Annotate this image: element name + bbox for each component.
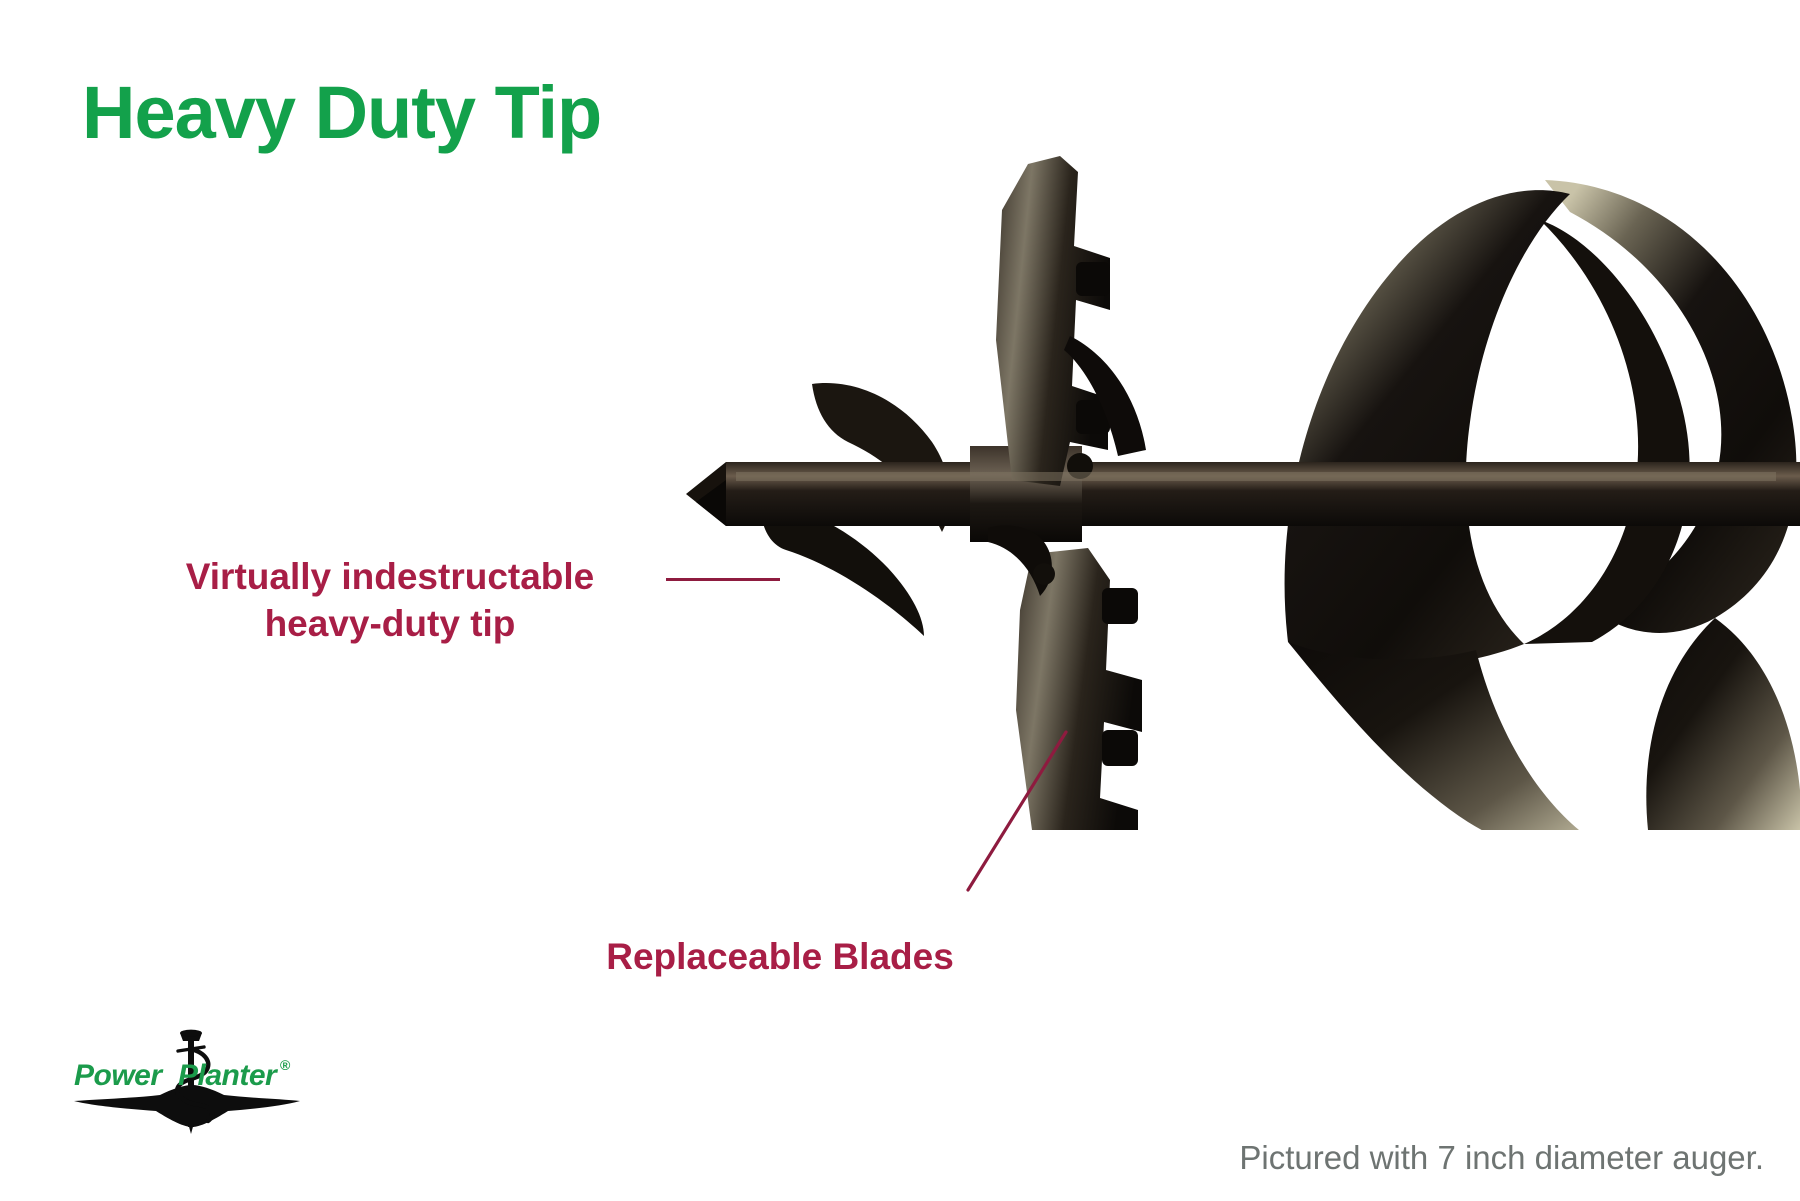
logo-auger-head-cap <box>180 1030 202 1037</box>
blade-bolt-hole-upper-1 <box>1076 262 1110 296</box>
image-caption: Pictured with 7 inch diameter auger. <box>1239 1139 1764 1177</box>
shaft-highlight <box>736 472 1776 481</box>
annotation-tip-line2: heavy-duty tip <box>110 600 670 647</box>
auger-flighting-main-lower <box>1288 642 1592 830</box>
auger-illustration <box>640 150 1800 830</box>
logo-auger-point <box>188 1123 194 1134</box>
auger-flighting-right-lower <box>1646 618 1800 830</box>
annotation-tip-line1: Virtually indestructable <box>110 553 670 600</box>
logo-registered-mark: ® <box>280 1057 290 1073</box>
page-title: Heavy Duty Tip <box>82 74 601 152</box>
auger-flighting-main-upper <box>1285 190 1570 667</box>
logo-word-power: Power <box>74 1059 162 1093</box>
auger-shaft <box>726 462 1800 526</box>
clip-pin <box>1033 563 1055 585</box>
brand-logo: Power Planter ® <box>72 1029 302 1139</box>
annotation-blades-line1: Replaceable Blades <box>580 933 980 980</box>
product-image <box>640 150 1800 830</box>
blade-bolt-hole-lower-2 <box>1102 730 1138 766</box>
logo-word-planter: Planter <box>178 1059 276 1093</box>
annotation-tip: Virtually indestructable heavy-duty tip <box>110 553 670 648</box>
leader-line-tip <box>666 578 780 581</box>
blade-bolt-hole-lower-1 <box>1102 588 1138 624</box>
replaceable-blade-upper <box>996 156 1110 486</box>
annotation-blades: Replaceable Blades <box>580 933 980 980</box>
slide-canvas: Heavy Duty Tip <box>0 0 1800 1201</box>
